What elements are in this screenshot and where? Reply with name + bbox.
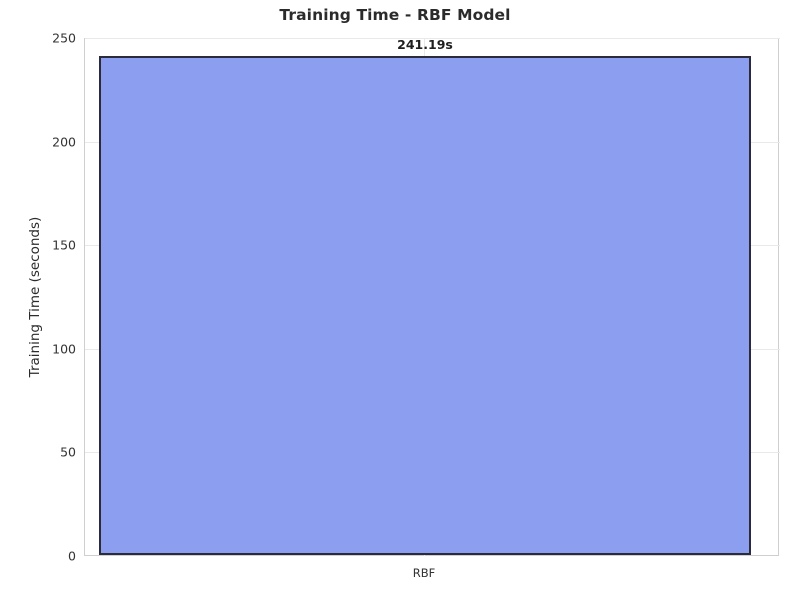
bar-rbf[interactable] — [99, 56, 751, 555]
y-tick-label: 200 — [6, 134, 76, 149]
x-axis-tick-labels: RBF — [84, 557, 779, 585]
y-tick-label: 100 — [6, 341, 76, 356]
y-axis-tick-labels: 0 50 100 150 200 250 — [0, 38, 76, 556]
y-tick-label: 150 — [6, 238, 76, 253]
y-tick-label: 50 — [6, 445, 76, 460]
bar-value-label: 241.19s — [397, 37, 453, 52]
x-tick-label-rbf: RBF — [413, 566, 436, 580]
y-tick-label: 0 — [6, 549, 76, 564]
chart-figure: Training Time - RBF Model Training Time … — [0, 0, 790, 589]
plot-area: 241.19s — [84, 38, 779, 556]
y-tick-label: 250 — [6, 31, 76, 46]
chart-title: Training Time - RBF Model — [0, 6, 790, 24]
